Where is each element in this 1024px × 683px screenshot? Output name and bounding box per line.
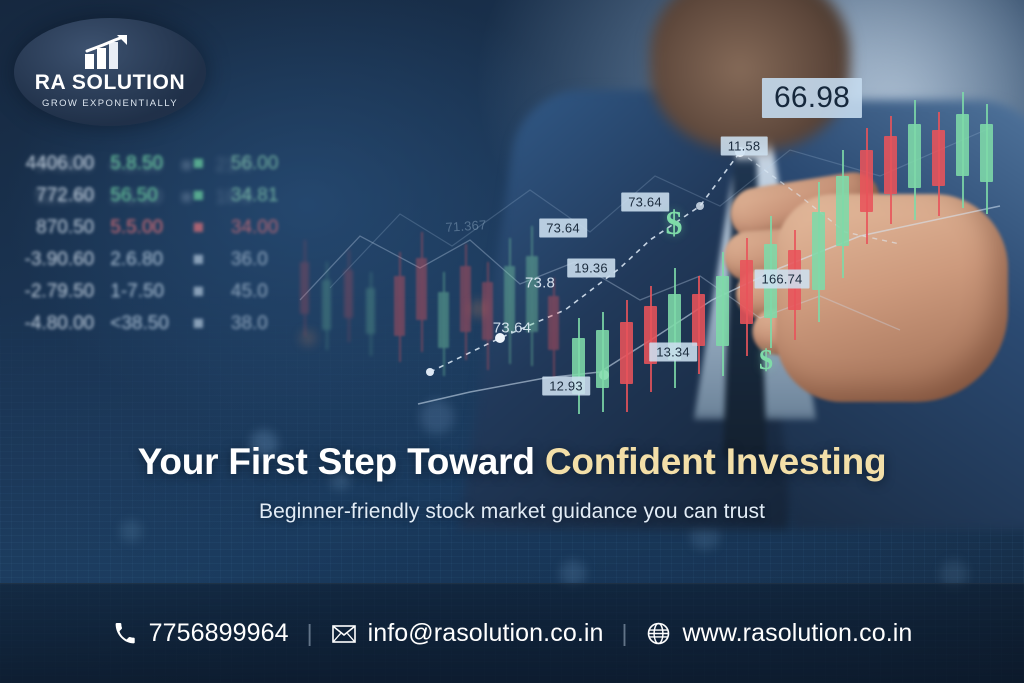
price-label-ghost: 71.367 bbox=[445, 217, 487, 235]
page-title: Your First Step Toward Confident Investi… bbox=[0, 441, 1024, 483]
contact-email[interactable]: info@rasolution.co.in bbox=[331, 619, 604, 648]
separator: | bbox=[622, 620, 628, 647]
logo-company-name: RA SOLUTION bbox=[35, 72, 185, 93]
price-label: 11.58 bbox=[721, 137, 768, 156]
contact-phone[interactable]: 7756899964 bbox=[112, 619, 289, 648]
page-subtitle: Beginner-friendly stock market guidance … bbox=[0, 500, 1024, 524]
price-label: 73.64 bbox=[621, 193, 669, 212]
envelope-icon bbox=[331, 621, 357, 647]
price-label-plain: 73.64 bbox=[493, 320, 532, 337]
dollar-symbol: $ bbox=[759, 345, 773, 377]
price-label: 13.34 bbox=[649, 343, 697, 362]
headline-primary: Your First Step Toward bbox=[138, 441, 545, 482]
contact-footer-bar: 7756899964 | info@rasolution.co.in | bbox=[0, 583, 1024, 683]
separator: | bbox=[307, 620, 313, 647]
price-label: 19.36 bbox=[567, 259, 615, 278]
headline-accent: Confident Investing bbox=[545, 441, 887, 482]
phone-number: 7756899964 bbox=[149, 619, 289, 648]
globe-icon bbox=[646, 621, 672, 647]
company-logo[interactable]: RA SOLUTION GROW EXPONENTIALLY bbox=[14, 18, 206, 126]
dollar-symbol: $ bbox=[666, 205, 683, 243]
logo-tagline: GROW EXPONENTIALLY bbox=[42, 98, 178, 109]
price-label-highlight: 66.98 bbox=[762, 78, 862, 118]
marketing-banner: 3416.04.2.10■21.0 521.403.1.20■18.0 4406… bbox=[0, 0, 1024, 683]
price-label: 73.64 bbox=[539, 219, 587, 238]
bar-chart-growth-arrow-icon bbox=[81, 35, 139, 69]
price-label: 166.74 bbox=[755, 270, 810, 289]
price-label-plain: 73.8 bbox=[525, 275, 555, 292]
price-label: 12.93 bbox=[542, 377, 590, 396]
email-address: info@rasolution.co.in bbox=[368, 619, 604, 648]
contact-website[interactable]: www.rasolution.co.in bbox=[646, 619, 913, 648]
phone-icon bbox=[112, 621, 138, 647]
website-url: www.rasolution.co.in bbox=[683, 619, 913, 648]
